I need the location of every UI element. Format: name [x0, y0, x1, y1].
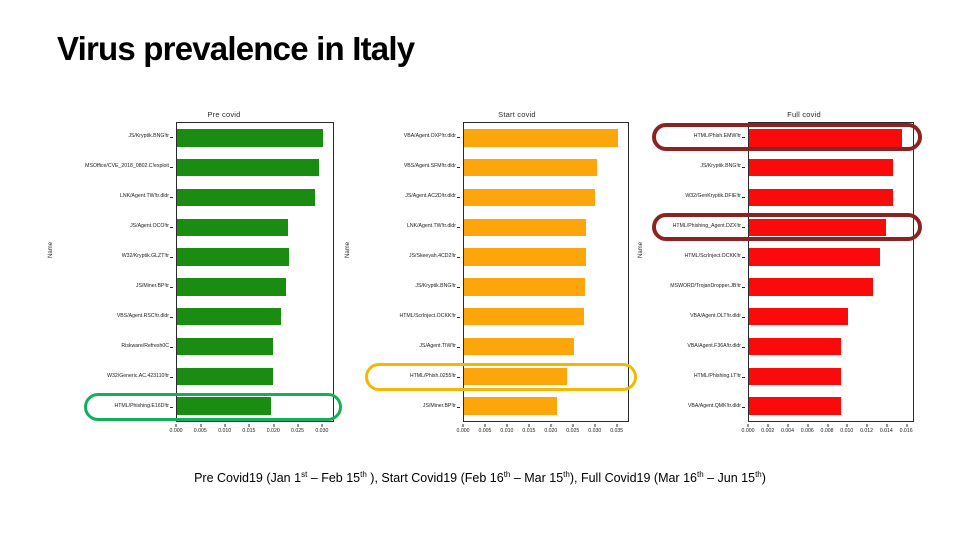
x-tick-label: 0.006	[801, 428, 814, 434]
x-tick-label: 0.030	[315, 428, 328, 434]
x-tick-label: 0.025	[566, 428, 579, 434]
x-tick-label: 0.012	[860, 428, 873, 434]
bar	[177, 159, 319, 176]
x-tick-label: 0.005	[194, 428, 207, 434]
bar	[177, 219, 288, 236]
x-tick-label: 0.010	[840, 428, 853, 434]
chart-title-pre-covid: Pre covid	[48, 110, 358, 119]
bar	[177, 129, 323, 146]
y-tick-label: VBA/Agent.OLT!tr.dldr	[638, 302, 745, 332]
y-tick-label: JS/Skeeyah.4CD2!tr	[345, 242, 460, 272]
y-tick-label: HTML/ScrInject.OCKK!tr	[638, 242, 745, 272]
bar	[464, 219, 586, 236]
bar-row	[464, 153, 628, 183]
bar-row	[177, 272, 333, 302]
bar-rows-full-covid	[749, 123, 913, 421]
y-tick-label: HTML/Phishing.LT!tr	[638, 362, 745, 392]
caption-ordinal-suffix: th	[360, 470, 367, 479]
x-axis-full-covid: 0.0000.0020.0040.0060.0080.0100.0120.014…	[748, 424, 914, 440]
y-tick-label: VBA/Agent.F36A!tr.dldr	[638, 332, 745, 362]
bar-row	[749, 272, 913, 302]
y-tick-labels-pre-covid: JS/Kryptik.BNG!trMSOffice/CVE_2018_0802.…	[48, 122, 173, 422]
y-tick-label: HTML/Phishing.E16D!tr	[48, 392, 173, 422]
bar	[749, 189, 893, 206]
plot-area-start-covid	[463, 122, 629, 422]
y-tick-label: VBS/Agent.RSC!tr.dldr	[48, 302, 173, 332]
y-tick-label: MSWORD/TrojanDropper.JB!tr	[638, 272, 745, 302]
bar-row	[464, 302, 628, 332]
x-tick-label: 0.025	[291, 428, 304, 434]
bar-row	[177, 242, 333, 272]
bar	[749, 397, 841, 414]
bar-row	[749, 123, 913, 153]
y-tick-label: JS/Kryptik.BNG!tr	[48, 122, 173, 152]
y-tick-label: VBA/Agent.OXP!tr.dldr	[345, 122, 460, 152]
x-tick-label: 0.015	[522, 428, 535, 434]
bar-row	[464, 123, 628, 153]
bar-row	[749, 361, 913, 391]
slide-caption: Pre Covid19 (Jan 1st – Feb 15th ), Start…	[0, 470, 960, 485]
bar-row	[464, 183, 628, 213]
bar	[749, 129, 902, 146]
bar-row	[177, 361, 333, 391]
bar	[749, 308, 848, 325]
bar	[177, 338, 273, 355]
x-tick-label: 0.000	[742, 428, 755, 434]
y-tick-labels-start-covid: VBA/Agent.OXP!tr.dldrVBS/Agent.SFM!tr.dl…	[345, 122, 460, 422]
caption-ordinal-suffix: th	[563, 470, 570, 479]
bar-rows-pre-covid	[177, 123, 333, 421]
x-tick-label: 0.014	[880, 428, 893, 434]
bar-row	[177, 391, 333, 421]
bar-row	[749, 391, 913, 421]
bar	[177, 397, 271, 414]
bar-row	[177, 123, 333, 153]
bar	[464, 368, 567, 385]
x-tick-label: 0.010	[500, 428, 513, 434]
x-axis-start-covid: 0.0000.0050.0100.0150.0200.0250.0300.035	[463, 424, 629, 440]
plot-area-pre-covid	[176, 122, 334, 422]
y-tick-label: JS/Miner.BP!tr	[48, 272, 173, 302]
bar-row	[177, 332, 333, 362]
x-tick-label: 0.005	[478, 428, 491, 434]
y-tick-label: JS/Agent.TIW!tr	[345, 332, 460, 362]
bar	[749, 278, 873, 295]
bar	[464, 159, 597, 176]
bar-row	[749, 212, 913, 242]
x-tick-label: 0.030	[588, 428, 601, 434]
bar-row	[464, 272, 628, 302]
x-tick-label: 0.000	[457, 428, 470, 434]
bar-row	[464, 361, 628, 391]
x-tick-label: 0.035	[610, 428, 623, 434]
bar-row	[749, 302, 913, 332]
caption-ordinal-suffix: st	[301, 470, 307, 479]
chart-title-full-covid: Full covid	[638, 110, 928, 119]
page-title: Virus prevalence in Italy	[57, 30, 414, 68]
y-tick-label: HTML/Phish.EMW!tr	[638, 122, 745, 152]
bar	[177, 368, 273, 385]
x-tick-label: 0.010	[218, 428, 231, 434]
y-tick-label: JS/Kryptik.BNG!tr	[638, 152, 745, 182]
y-tick-label: HTML/ScrInject.OCKK!tr	[345, 302, 460, 332]
bar	[749, 248, 880, 265]
y-tick-label: LNK/Agent.TW!tr.dldr	[345, 212, 460, 242]
bar	[177, 189, 315, 206]
x-tick-label: 0.015	[242, 428, 255, 434]
y-tick-label: VBA/Agent.QMK!tr.dldr	[638, 392, 745, 422]
x-tick-label: 0.000	[170, 428, 183, 434]
chart-panel-full-covid: Full covid Name HTML/Phish.EMW!trJS/Kryp…	[638, 106, 928, 446]
x-tick-label: 0.016	[900, 428, 913, 434]
bar-row	[177, 153, 333, 183]
bar	[177, 278, 286, 295]
bar	[749, 219, 886, 236]
x-axis-pre-covid: 0.0000.0050.0100.0150.0200.0250.030	[176, 424, 334, 440]
caption-ordinal-suffix: th	[504, 470, 511, 479]
caption-ordinal-suffix: th	[755, 470, 762, 479]
chart-panel-pre-covid: Pre covid Name JS/Kryptik.BNG!trMSOffice…	[48, 106, 358, 446]
bar-row	[464, 212, 628, 242]
x-tick-label: 0.002	[761, 428, 774, 434]
bar-rows-start-covid	[464, 123, 628, 421]
bar	[749, 159, 893, 176]
plot-area-full-covid	[748, 122, 914, 422]
bar-row	[177, 212, 333, 242]
bar-row	[177, 302, 333, 332]
bar	[749, 338, 841, 355]
bar-row	[464, 391, 628, 421]
bar	[749, 368, 841, 385]
bar-row	[749, 183, 913, 213]
y-tick-label: W32/Generic.AC.423110!tr	[48, 362, 173, 392]
y-tick-label: HTML/Phish.0255!tr	[345, 362, 460, 392]
bar	[464, 397, 557, 414]
x-tick-label: 0.020	[267, 428, 280, 434]
bar-row	[177, 183, 333, 213]
bar	[464, 278, 585, 295]
bar-row	[464, 332, 628, 362]
bar	[177, 248, 289, 265]
y-tick-labels-full-covid: HTML/Phish.EMW!trJS/Kryptik.BNG!trW32/Ge…	[638, 122, 745, 422]
y-tick-label: MSOffice/CVE_2018_0802.C!exploit	[48, 152, 173, 182]
bar	[464, 248, 586, 265]
y-tick-label: JS/Agent.OCO!tr	[48, 212, 173, 242]
y-tick-label: W32/Kryptik.GLZT!tr	[48, 242, 173, 272]
charts-container: Pre covid Name JS/Kryptik.BNG!trMSOffice…	[0, 106, 960, 446]
x-tick-label: 0.004	[781, 428, 794, 434]
y-tick-label: JS/Miner.BP!tr	[345, 392, 460, 422]
bar-row	[749, 153, 913, 183]
bar	[464, 129, 618, 146]
x-tick-label: 0.020	[544, 428, 557, 434]
y-tick-label: Riskware/Refresh0C	[48, 332, 173, 362]
y-tick-label: W32/GenKryptik.DFIE!tr	[638, 182, 745, 212]
y-tick-label: VBS/Agent.SFM!tr.dldr	[345, 152, 460, 182]
y-tick-label: JS/Kryptik.BNG!tr	[345, 272, 460, 302]
bar-row	[749, 332, 913, 362]
x-tick-label: 0.008	[821, 428, 834, 434]
y-tick-label: HTML/Phishing_Agent.DZX!tr	[638, 212, 745, 242]
y-tick-label: JS/Agent.AC2D!tr.dldr	[345, 182, 460, 212]
chart-panel-start-covid: Start covid Name VBA/Agent.OXP!tr.dldrVB…	[345, 106, 645, 446]
bar	[464, 189, 595, 206]
bar	[464, 308, 584, 325]
bar-row	[464, 242, 628, 272]
bar	[177, 308, 281, 325]
caption-ordinal-suffix: th	[697, 470, 704, 479]
chart-title-start-covid: Start covid	[345, 110, 645, 119]
bar	[464, 338, 574, 355]
y-tick-label: LNK/Agent.TW!tr.dldr	[48, 182, 173, 212]
bar-row	[749, 242, 913, 272]
